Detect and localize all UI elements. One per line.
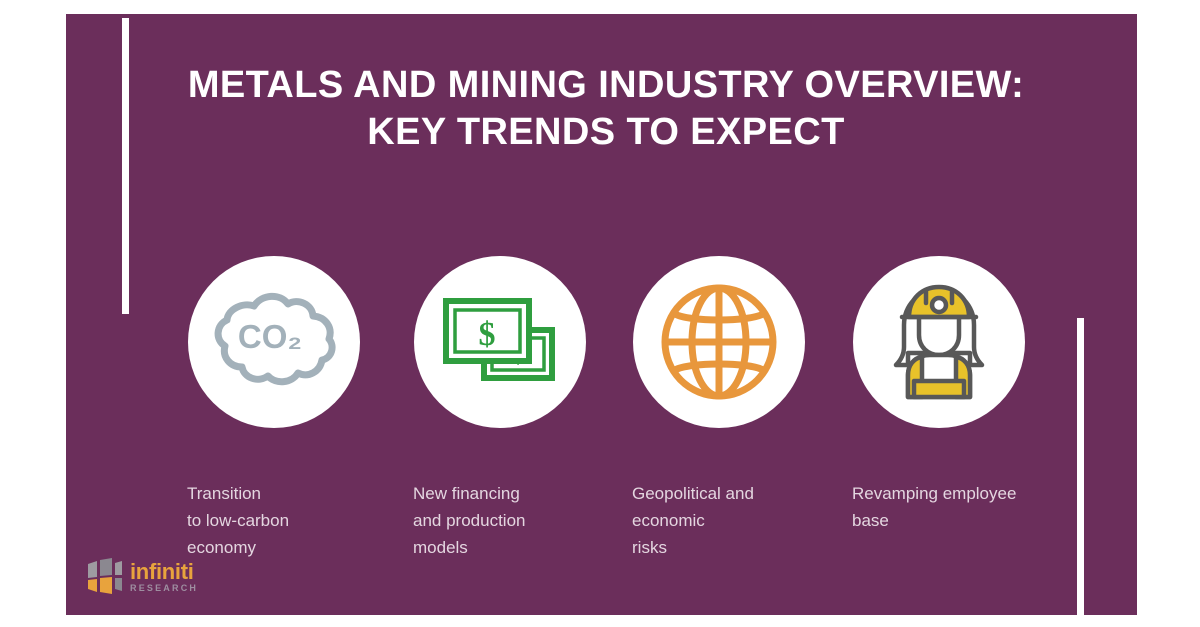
trend-card-financing: $ $ New financing and production models — [398, 256, 608, 586]
trend-caption-low-carbon: Transition to low-carbon economy — [187, 480, 392, 561]
infiniti-logo-mark — [88, 558, 124, 594]
trend-caption-financing: New financing and production models — [413, 480, 618, 561]
co2-cloud-icon: CO₂ — [210, 286, 338, 398]
globe-icon — [657, 280, 781, 404]
banknotes-dollar-icon: $ $ — [437, 287, 563, 397]
icon-disc-geopolitical — [633, 256, 805, 428]
trend-caption-geopolitical: Geopolitical and economic risks — [632, 480, 837, 561]
co2-icon-label: CO₂ — [238, 318, 302, 355]
page-title: METALS AND MINING INDUSTRY OVERVIEW: KEY… — [156, 62, 1056, 156]
trend-caption-employee-base: Revamping employee base — [852, 480, 1057, 534]
accent-rule-left — [122, 18, 129, 314]
brand-logo: infiniti RESEARCH — [88, 554, 298, 602]
trend-card-employee-base: Revamping employee base — [837, 256, 1047, 586]
accent-rule-right — [1077, 318, 1084, 615]
icon-disc-low-carbon: CO₂ — [188, 256, 360, 428]
female-worker-hardhat-icon — [878, 279, 1000, 405]
logo-wordmark: infiniti RESEARCH — [130, 560, 198, 594]
logo-tagline: RESEARCH — [130, 583, 198, 594]
trend-card-low-carbon: CO₂ Transition to low-carbon economy — [172, 256, 382, 586]
dollar-sign-front: $ — [479, 316, 496, 353]
logo-name: infiniti — [130, 560, 198, 583]
title-line-2: KEY TRENDS TO EXPECT — [156, 109, 1056, 156]
icon-disc-financing: $ $ — [414, 256, 586, 428]
trend-cards-row: CO₂ Transition to low-carbon economy $ — [172, 256, 1072, 586]
trend-card-geopolitical: Geopolitical and economic risks — [617, 256, 827, 586]
icon-disc-employee-base — [853, 256, 1025, 428]
title-line-1: METALS AND MINING INDUSTRY OVERVIEW: — [156, 62, 1056, 109]
slide-root: METALS AND MINING INDUSTRY OVERVIEW: KEY… — [0, 0, 1200, 627]
slide-panel: METALS AND MINING INDUSTRY OVERVIEW: KEY… — [66, 14, 1137, 615]
